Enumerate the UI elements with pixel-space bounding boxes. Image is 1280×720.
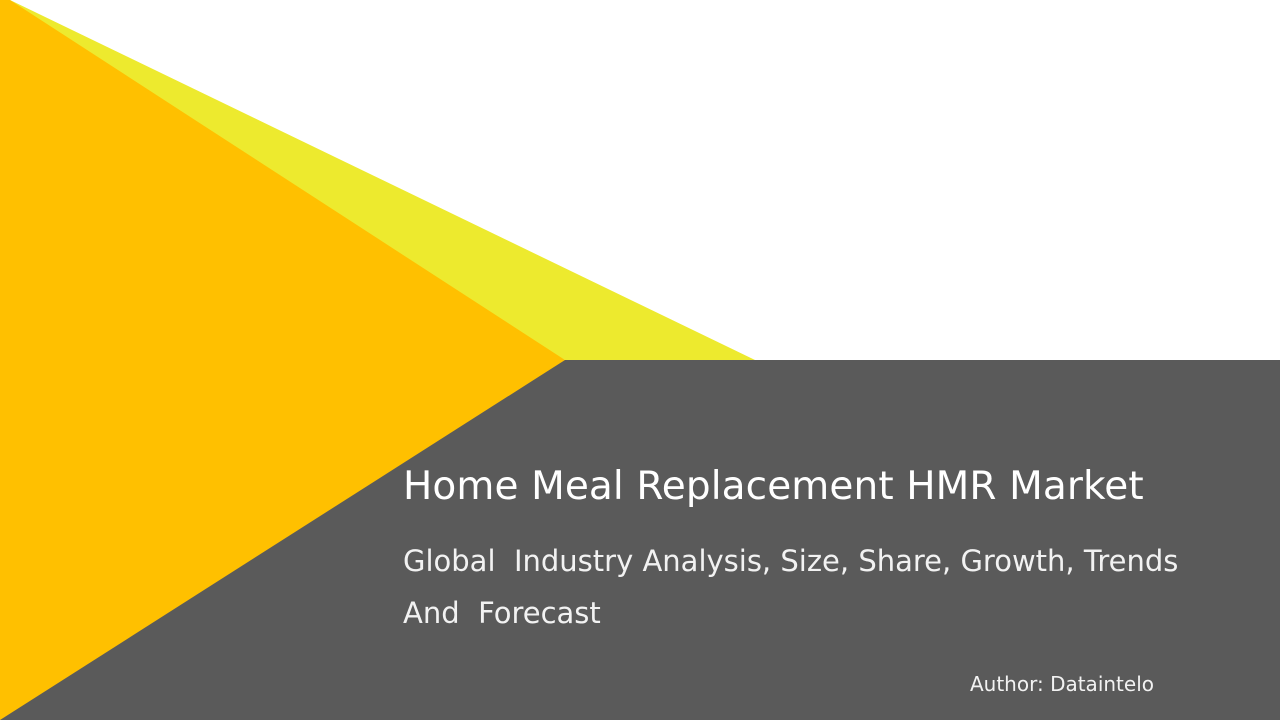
page-title: Home Meal Replacement HMR Market <box>403 463 1243 511</box>
author-credit: Author: Dataintelo <box>620 671 1154 697</box>
cover-text-layer: Home Meal Replacement HMR Market Global … <box>0 0 1280 720</box>
report-cover-slide: Home Meal Replacement HMR Market Global … <box>0 0 1280 720</box>
page-subtitle: Global Industry Analysis, Size, Share, G… <box>403 535 1223 639</box>
